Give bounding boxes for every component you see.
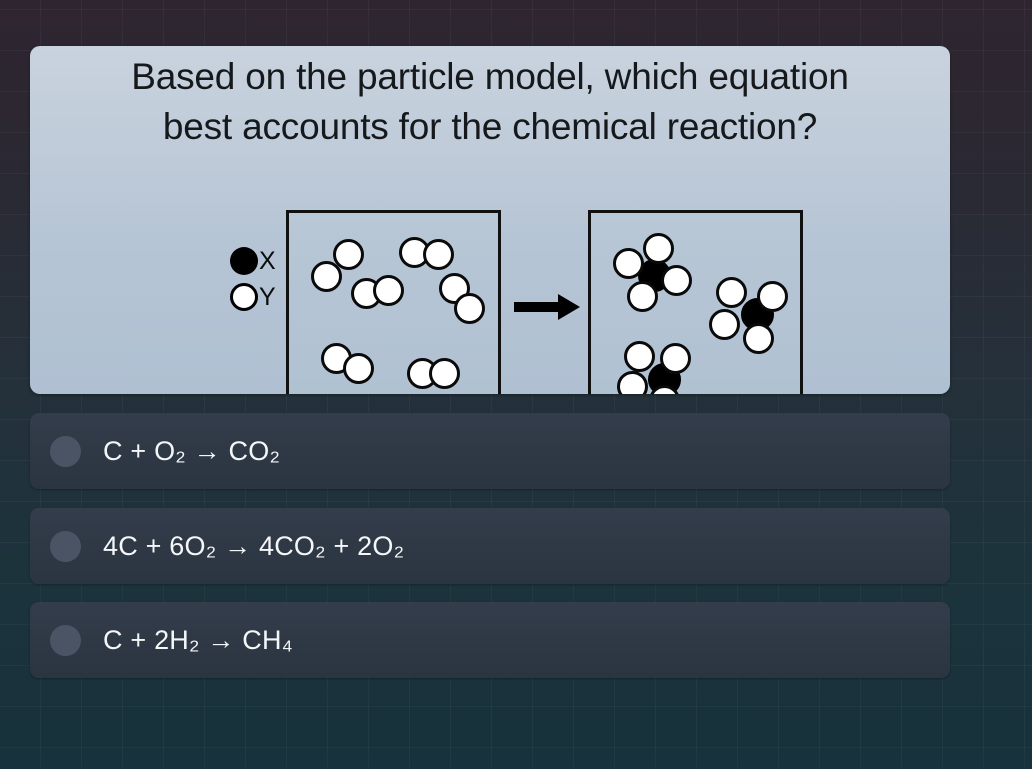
atom-y xyxy=(373,275,404,306)
legend-item-y: Y xyxy=(230,279,290,315)
atom-y xyxy=(624,341,655,372)
atom-y xyxy=(660,343,691,374)
atom-y xyxy=(661,265,692,296)
answer-option-a-label: C + O₂ → CO₂ xyxy=(103,436,280,467)
products-particle-box xyxy=(588,210,803,394)
right-arrow-icon xyxy=(514,294,580,320)
particle-legend: X Y xyxy=(230,243,290,315)
legend-label-y: Y xyxy=(259,285,276,310)
atom-y xyxy=(757,281,788,312)
atom-y xyxy=(627,281,658,312)
legend-label-x: X xyxy=(259,249,276,274)
black-circle-icon xyxy=(230,247,258,275)
white-circle-icon xyxy=(230,283,258,311)
radio-button-a[interactable] xyxy=(50,436,81,467)
atom-y xyxy=(617,371,648,394)
atom-y xyxy=(343,353,374,384)
atom-y xyxy=(643,233,674,264)
legend-item-x: X xyxy=(230,243,290,279)
reactants-particle-box xyxy=(286,210,501,394)
answer-option-a[interactable]: C + O₂ → CO₂ xyxy=(30,413,950,489)
answer-option-c[interactable]: C + 2H₂ → CH₄ xyxy=(30,602,950,678)
atom-y xyxy=(333,239,364,270)
question-text: Based on the particle model, which equat… xyxy=(30,52,950,152)
radio-button-c[interactable] xyxy=(50,625,81,656)
atom-y xyxy=(423,239,454,270)
answer-option-c-label: C + 2H₂ → CH₄ xyxy=(103,625,293,656)
atom-y xyxy=(709,309,740,340)
app-background: Based on the particle model, which equat… xyxy=(0,0,1032,769)
answer-option-b[interactable]: 4C + 6O₂ → 4CO₂ + 2O₂ xyxy=(30,508,950,584)
atom-y xyxy=(743,323,774,354)
atom-y xyxy=(454,293,485,324)
atom-y xyxy=(613,248,644,279)
atom-y xyxy=(429,358,460,389)
atom-y xyxy=(716,277,747,308)
question-panel: Based on the particle model, which equat… xyxy=(30,46,950,394)
answer-option-b-label: 4C + 6O₂ → 4CO₂ + 2O₂ xyxy=(103,531,404,562)
radio-button-b[interactable] xyxy=(50,531,81,562)
